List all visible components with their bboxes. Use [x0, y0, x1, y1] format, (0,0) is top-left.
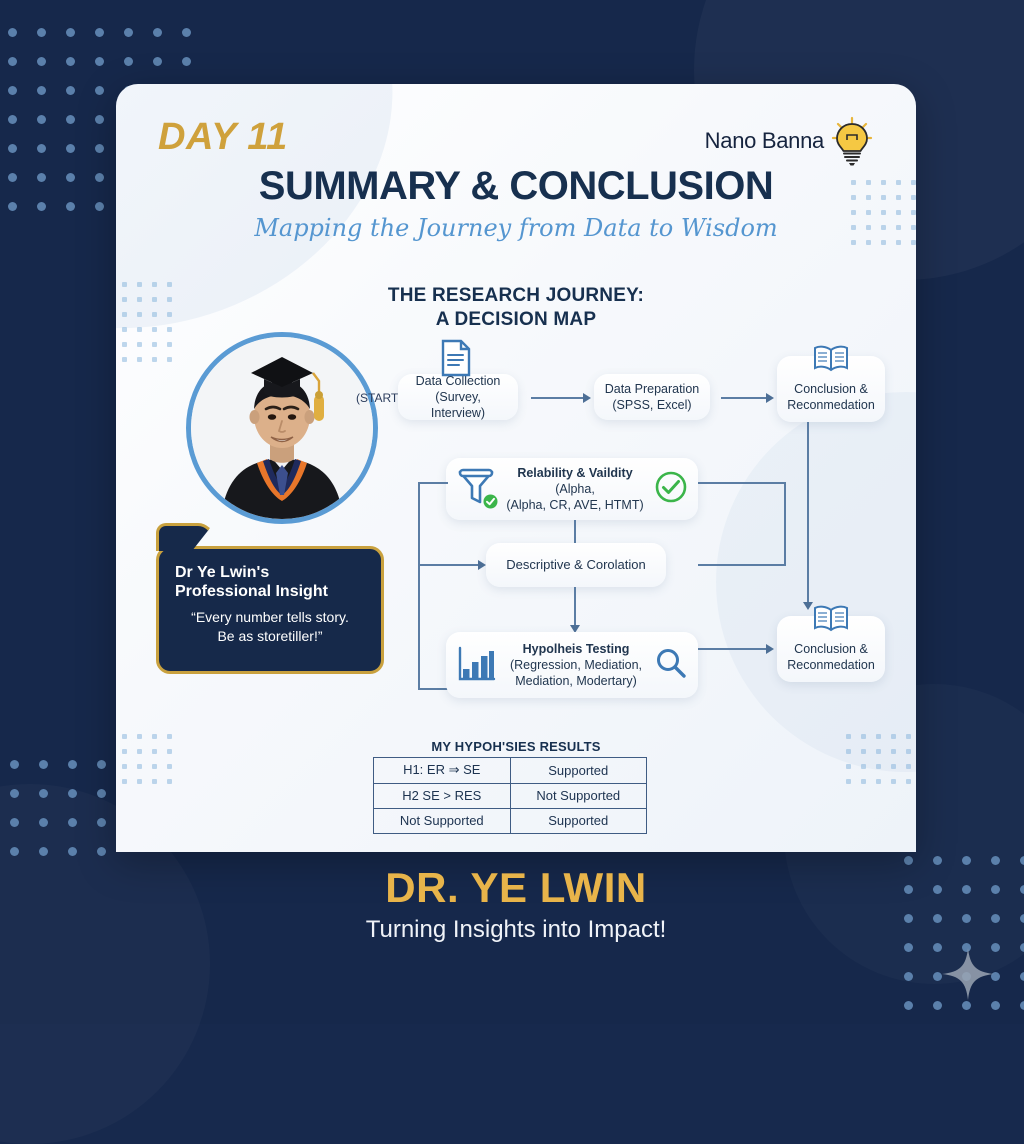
card-decorative-wave [716, 392, 916, 772]
arrow-head-icon [766, 393, 774, 403]
connector-collection-to-preparation [531, 397, 583, 399]
results-title: MY HYPOH'SIES RESULTS [116, 739, 916, 754]
connector-feedback-rail [418, 482, 420, 690]
diagram-title-line-1: THE RESEARCH JOURNEY: [116, 284, 916, 308]
graduate-portrait-image [191, 337, 373, 519]
node-hypothesis-title: Hypolheis Testing [498, 641, 654, 657]
diagram-section-title: THE RESEARCH JOURNEY: A DECISION MAP [116, 284, 916, 332]
connector-descriptive-to-hypothesis [574, 587, 576, 627]
page-subtitle: Mapping the Journey from Data to Wisdom [116, 214, 916, 242]
connector-preparation-to-conclusion [721, 397, 766, 399]
node-descriptive-title: Descriptive & Corolation [506, 557, 645, 574]
cell-hypothesis: Not Supported [374, 809, 511, 834]
brand-logo: Nano Banna [705, 116, 874, 166]
insight-heading-line-2: Professional Insight [175, 583, 328, 600]
footer-tagline: Turning Insights into Impact! [116, 912, 916, 944]
bar-chart-icon [456, 643, 498, 688]
insight-quote: “Every number tells story. Be as storeti… [175, 608, 365, 644]
magnifier-icon [654, 646, 688, 685]
node-reliability-title: Relability & Vaildity [496, 465, 654, 481]
node-hypothesis-sub1: (Regression, Mediation, [498, 657, 654, 673]
node-reliability-validity[interactable]: Relability & Vaildity (Alpha, (Alpha, CR… [446, 458, 698, 520]
poster-footer: DR. YE LWIN Turning Insights into Impact… [116, 852, 916, 960]
node-conclusion-top-title: Conclusion & [787, 381, 875, 397]
insight-heading-line-1: Dr Ye Lwin's [175, 564, 269, 581]
avatar [186, 332, 378, 524]
insight-callout: Dr Ye Lwin's Professional Insight “Every… [156, 546, 384, 674]
insight-quote-line-2: Be as storetiller!” [217, 628, 322, 644]
funnel-icon [456, 466, 496, 513]
connector-feedback-top [418, 482, 448, 484]
results-table: H1: ER ⇒ SESupportedH2 SE > RESNot Suppo… [373, 757, 647, 834]
day-label: DAY 11 [158, 116, 288, 159]
table-row: Not SupportedSupported [374, 809, 647, 834]
node-conclusion-top-sub: Reconmedation [787, 397, 875, 413]
book-icon [813, 604, 849, 632]
arrow-head-icon [583, 393, 591, 403]
arrow-head-icon [803, 602, 813, 610]
start-label: (START) [356, 391, 402, 405]
node-reliability-sub1: (Alpha, [496, 481, 654, 497]
page-title: SUMMARY & CONCLUSION [116, 164, 916, 209]
arrow-head-icon [766, 644, 774, 654]
node-hypothesis-sub2: Mediation, Modertary) [498, 673, 654, 689]
connector-hypothesis-to-conclusion [698, 648, 766, 650]
footer-name: DR. YE LWIN [116, 852, 916, 912]
insight-quote-line-1: “Every number tells story. [191, 609, 349, 625]
node-data-preparation-title: Data Preparation [605, 381, 700, 397]
node-conclusion-bottom-title: Conclusion & [787, 641, 875, 657]
diagram-title-line-2: A DECISION MAP [116, 308, 916, 332]
cell-outcome: Not Supported [510, 784, 647, 809]
check-circle-icon [654, 470, 688, 509]
cell-hypothesis: H1: ER ⇒ SE [374, 758, 511, 784]
connector-conclusion-top-down [807, 422, 809, 604]
connector-reliability-right [698, 482, 786, 484]
document-icon [438, 338, 474, 378]
cell-outcome: Supported [510, 758, 647, 784]
sparkle-icon [940, 946, 996, 1002]
insight-heading: Dr Ye Lwin's Professional Insight [175, 563, 365, 601]
node-conclusion-bottom-sub: Reconmedation [787, 657, 875, 673]
node-data-collection-sub: (Survey, Interview) [408, 389, 508, 421]
cell-hypothesis: H2 SE > RES [374, 784, 511, 809]
cell-outcome: Supported [510, 809, 647, 834]
arrow-head-icon [478, 560, 486, 570]
book-icon [813, 344, 849, 372]
poster-card: DAY 11 Nano Banna SUMMARY & CONCLUSION M… [116, 84, 916, 852]
node-data-preparation-sub: (SPSS, Excel) [605, 397, 700, 413]
table-row: H1: ER ⇒ SESupported [374, 758, 647, 784]
callout-tail [156, 523, 214, 551]
connector-reliability-right-down [784, 482, 786, 566]
connector-feedback-to-descriptive [418, 564, 478, 566]
node-reliability-sub2: (Alpha, CR, AVE, HTMT) [496, 497, 654, 513]
node-data-collection[interactable]: Data Collection (Survey, Interview) [398, 374, 518, 420]
lightbulb-icon [830, 116, 874, 166]
node-hypothesis-testing[interactable]: Hypolheis Testing (Regression, Mediation… [446, 632, 698, 698]
table-row: H2 SE > RESNot Supported [374, 784, 647, 809]
brand-name: Nano Banna [705, 128, 824, 154]
node-data-preparation[interactable]: Data Preparation (SPSS, Excel) [594, 374, 710, 420]
connector-descriptive-right [698, 564, 786, 566]
node-descriptive-correlation[interactable]: Descriptive & Corolation [486, 543, 666, 587]
